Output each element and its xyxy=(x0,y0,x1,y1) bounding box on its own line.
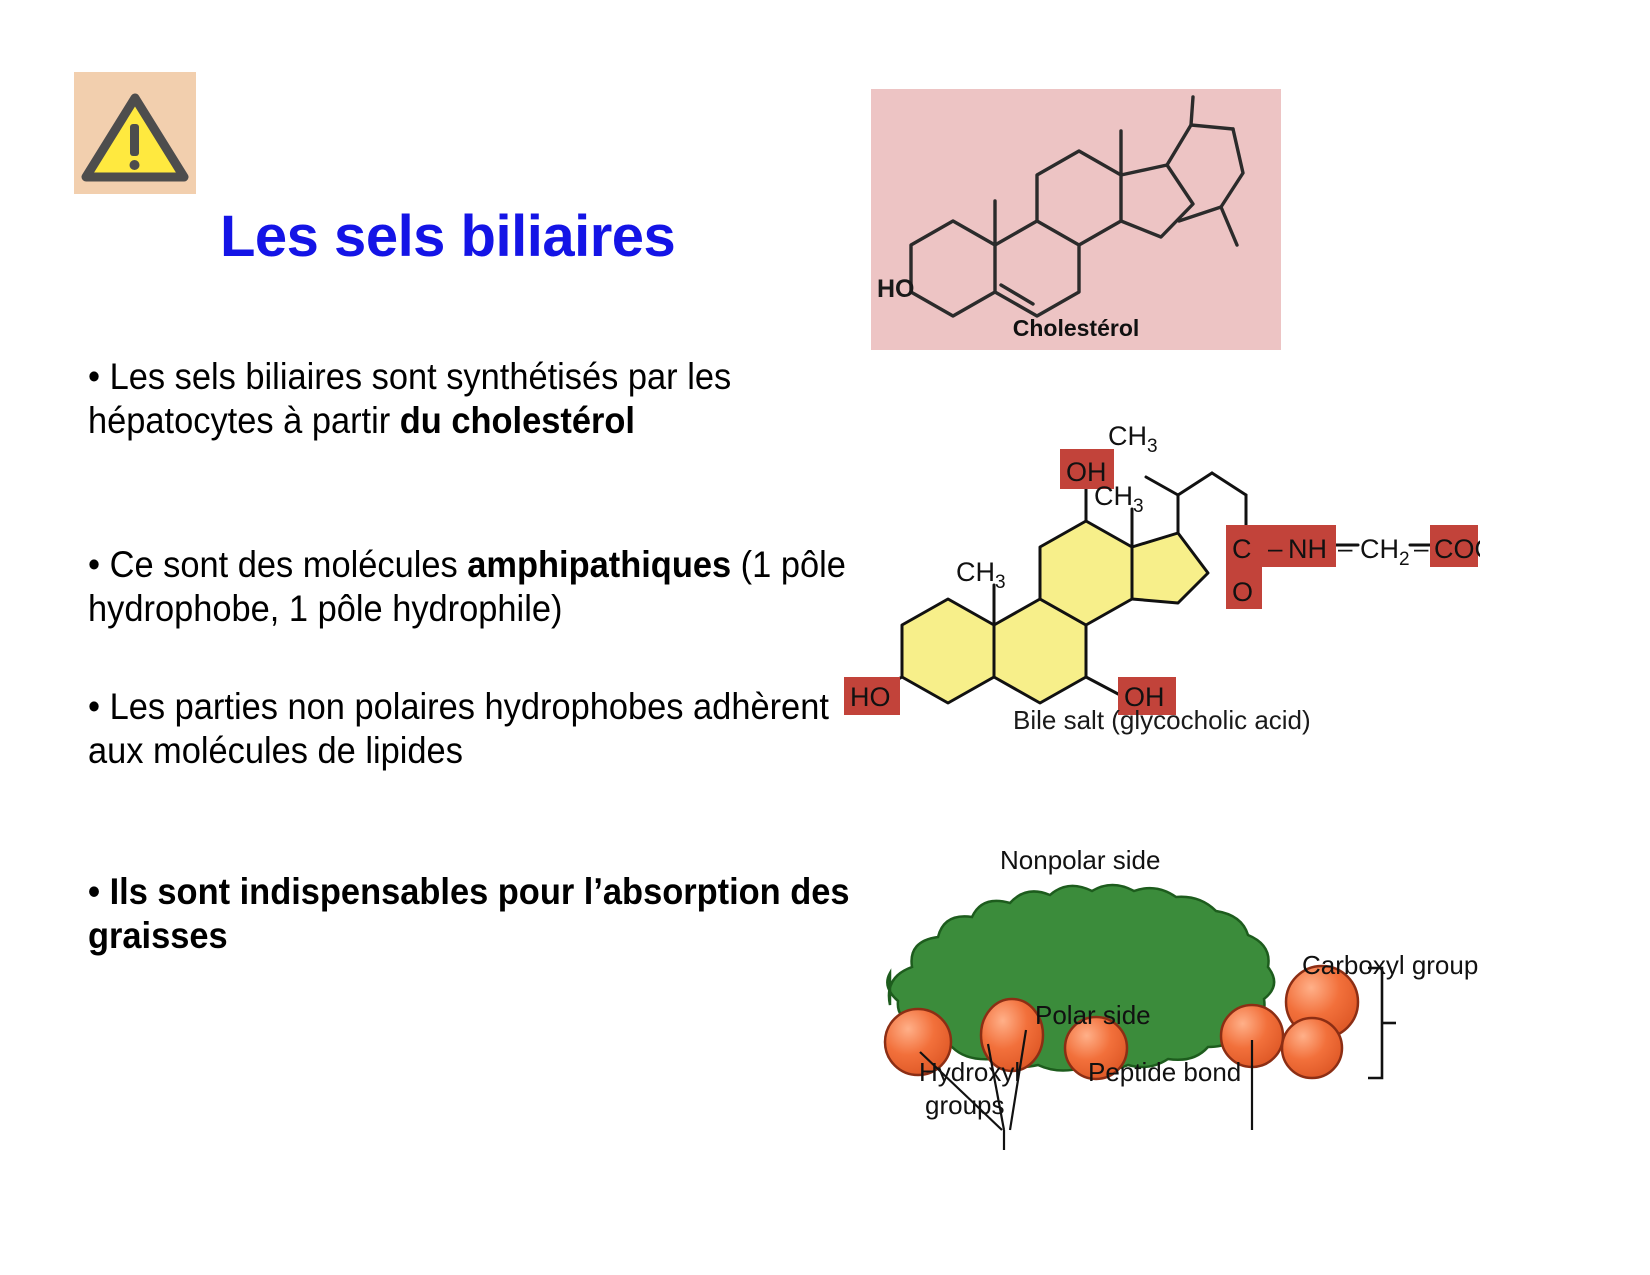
label-peptide-bond: Peptide bond xyxy=(1088,1057,1241,1088)
bile-dash-1: – xyxy=(1268,533,1283,563)
bullet-item-amphipathic: • Ce sont des molécules amphipathiques (… xyxy=(88,543,860,632)
bullet-item-nonpolar: • Les parties non polaires hydrophobes a… xyxy=(88,685,860,774)
label-hydroxyl: Hydroxyl xyxy=(919,1057,1020,1088)
bile-salt-structure-figure: HO OH OH C O NH CH2 COO− CH3 CH3 CH3 – –… xyxy=(840,405,1480,755)
bullet-2-bold: amphipathiques xyxy=(467,544,731,585)
bile-salt-skeleton-diagram: HO OH OH C O NH CH2 COO− CH3 CH3 CH3 – –… xyxy=(840,405,1480,755)
cholesterol-skeleton-diagram xyxy=(871,89,1281,350)
bile-ch3-top-label: CH3 xyxy=(1108,421,1158,457)
bile-ch3-left-label: CH3 xyxy=(956,557,1006,593)
bullet-item-indispensable: • Ils sont indispensables pour l’absorpt… xyxy=(88,870,860,959)
bile-ch2-label: CH2 xyxy=(1360,534,1410,570)
label-nonpolar-side: Nonpolar side xyxy=(1000,845,1160,876)
warning-icon-box xyxy=(74,72,196,194)
bile-amide-o-label: O xyxy=(1232,577,1253,607)
warning-triangle-icon xyxy=(74,72,196,194)
bile-amide-c-label: C xyxy=(1232,534,1252,564)
bile-dash-2: – xyxy=(1338,533,1353,563)
bullet-item-synthesis: • Les sels biliaires sont synthétisés pa… xyxy=(88,355,860,444)
carboxyl-bracket xyxy=(1368,968,1396,1078)
bile-amide-nh-label: NH xyxy=(1288,534,1327,564)
bile-ho-label: HO xyxy=(850,682,891,712)
bullet-2-plain-prefix: • Ce sont des molécules xyxy=(88,544,467,585)
bile-dash-3: – xyxy=(1414,533,1429,563)
cholesterol-ho-label: HO xyxy=(877,275,915,304)
bile-coo-label: COO− xyxy=(1434,533,1480,564)
label-polar-side: Polar side xyxy=(1035,1000,1151,1031)
cholesterol-structure-figure: HO Cholestérol xyxy=(871,89,1281,350)
label-carboxyl-group: Carboxyl group xyxy=(1302,950,1478,981)
label-hydroxyl-groups: groups xyxy=(925,1090,1005,1121)
bile-salt-caption: Bile salt (glycocholic acid) xyxy=(1013,705,1311,736)
bile-ch3-mid-label: CH3 xyxy=(1094,481,1144,517)
cholesterol-caption: Cholestérol xyxy=(871,315,1281,342)
page-title: Les sels biliaires xyxy=(220,203,675,270)
bullet-1-bold: du cholestérol xyxy=(400,400,635,441)
